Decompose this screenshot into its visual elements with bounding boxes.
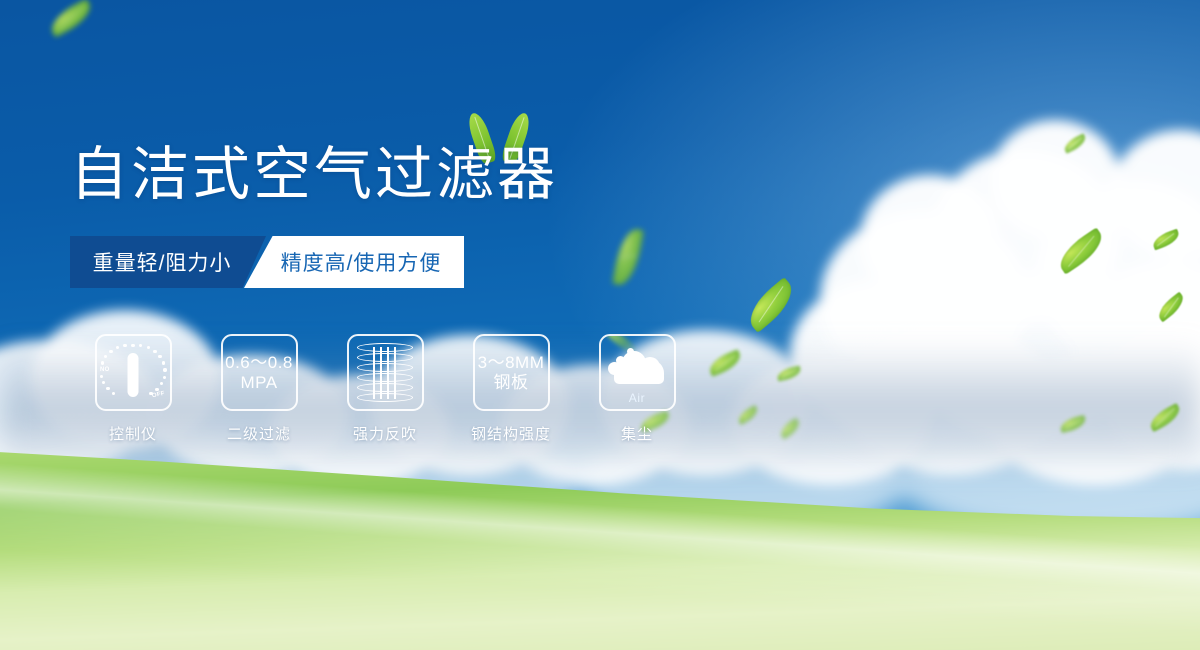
feature-label: 控制仪 xyxy=(109,423,157,444)
feature-icon-box: 0.6～0.8 MPA xyxy=(221,334,298,411)
steel-line-2: 钢板 xyxy=(478,373,545,393)
pressure-line-2: MPA xyxy=(225,373,293,393)
air-label: Air xyxy=(606,391,668,405)
leaf-decoration xyxy=(1062,133,1088,153)
leaf-decoration xyxy=(1154,292,1188,323)
feature-icon-box: Air xyxy=(599,334,676,411)
feature-item-controller[interactable]: NO OFF 控制仪 xyxy=(70,334,196,444)
subtitle-left-text: 重量轻/阻力小 xyxy=(93,247,232,277)
subtitle-right-tag: 精度高/使用方便 xyxy=(244,236,464,288)
feature-label: 钢结构强度 xyxy=(471,423,551,444)
subtitle-left-tag: 重量轻/阻力小 xyxy=(70,236,266,288)
cloud-right xyxy=(780,120,1200,450)
page-title: 自洁式空气过滤器 xyxy=(70,146,558,204)
feature-item-strong-backflush[interactable]: 强力反吹 xyxy=(322,334,448,444)
gauge-dial-icon: NO OFF xyxy=(101,341,165,405)
leaf-decoration xyxy=(736,405,760,425)
leaf-decoration xyxy=(612,227,644,288)
feature-icon-box: NO OFF xyxy=(95,334,172,411)
filter-coil-icon xyxy=(357,343,413,403)
feature-label: 强力反吹 xyxy=(353,423,417,444)
leaf-decoration xyxy=(46,0,96,38)
feature-label: 二级过滤 xyxy=(227,423,291,444)
feature-label: 集尘 xyxy=(621,423,653,444)
leaf-decoration xyxy=(778,418,802,439)
feature-item-two-stage-filter[interactable]: 0.6～0.8 MPA 二级过滤 xyxy=(196,334,322,444)
leaf-decoration xyxy=(1146,403,1183,432)
gauge-no-label: NO xyxy=(100,367,110,373)
leaf-decoration xyxy=(1059,415,1087,433)
leaf-decoration xyxy=(1053,227,1108,274)
feature-list: NO OFF 控制仪 0.6～0.8 MPA 二级过滤 xyxy=(70,334,700,444)
pressure-value-icon: 0.6～0.8 MPA xyxy=(225,353,293,392)
leaf-decoration xyxy=(706,349,744,377)
subtitle-banner: 重量轻/阻力小 精度高/使用方便 xyxy=(70,236,464,288)
feature-icon-box: 3～8MM 钢板 xyxy=(473,334,550,411)
subtitle-right-text: 精度高/使用方便 xyxy=(281,247,442,277)
air-cloud-icon: Air xyxy=(606,344,668,402)
product-hero-banner: 自洁式空气过滤器 重量轻/阻力小 精度高/使用方便 xyxy=(0,0,1200,650)
leaf-decoration xyxy=(776,366,802,382)
steel-plate-icon: 3～8MM 钢板 xyxy=(478,353,545,392)
feature-item-dust-collection[interactable]: Air 集尘 xyxy=(574,334,700,444)
gauge-off-label: OFF xyxy=(152,390,166,399)
feature-icon-box xyxy=(347,334,424,411)
pressure-line-1: 0.6～0.8 xyxy=(225,353,293,373)
steel-line-1: 3～8MM xyxy=(478,353,545,373)
leaf-decoration xyxy=(1151,229,1182,251)
feature-item-steel-strength[interactable]: 3～8MM 钢板 钢结构强度 xyxy=(448,334,574,444)
leaf-decoration xyxy=(741,277,801,333)
